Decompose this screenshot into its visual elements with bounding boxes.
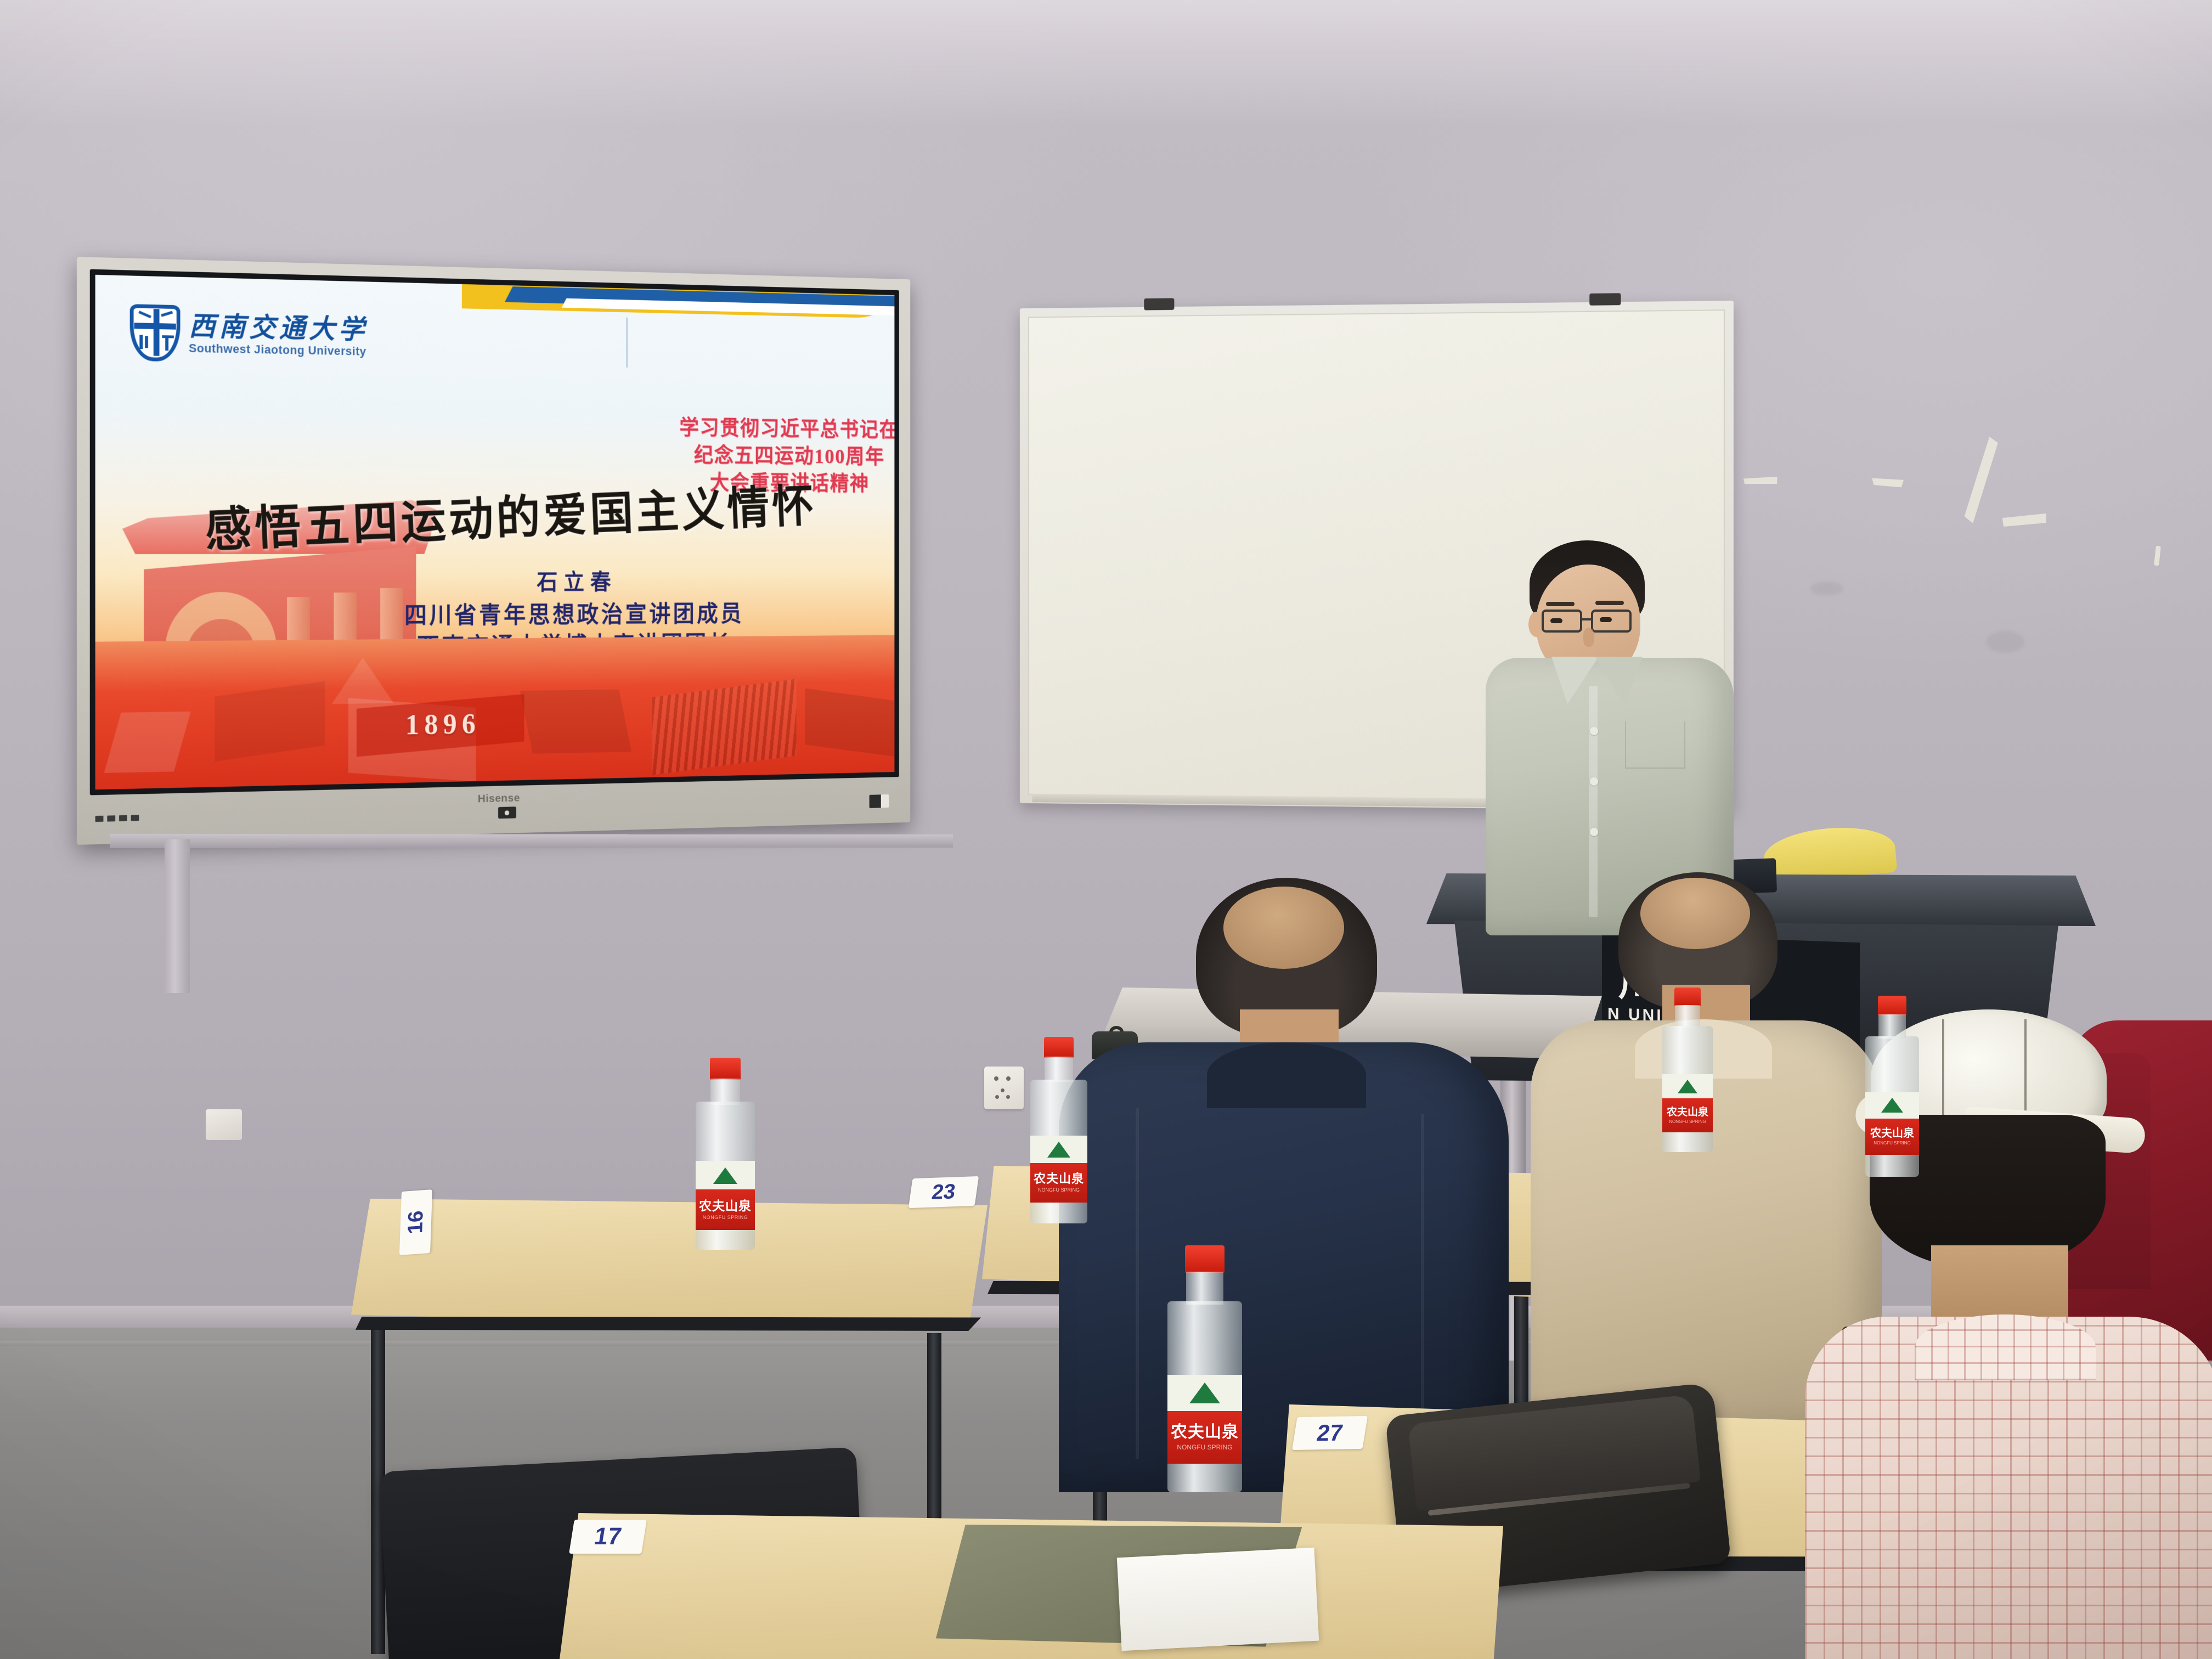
- display-wall-mount: [165, 839, 190, 993]
- ceiling-light-gradient: [0, 0, 2212, 126]
- logo-chinese-name: 西南交通大学: [189, 312, 368, 343]
- red-heading-line-2: 纪念五四运动100周年: [675, 441, 894, 470]
- bottle-brand-en: NONGFU SPRING: [1038, 1188, 1080, 1193]
- bottle-brand-en: NONGFU SPRING: [1874, 1141, 1911, 1145]
- water-bottle[interactable]: 农夫山泉 NONGFU SPRING: [696, 1058, 755, 1250]
- bottle-brand-cn: 农夫山泉: [1667, 1107, 1708, 1118]
- speaker-name: 石立春: [297, 564, 842, 597]
- display-ports[interactable]: [95, 815, 139, 822]
- desk-number-placard: 27: [1292, 1416, 1368, 1450]
- power-outlet-secondary[interactable]: [206, 1109, 242, 1140]
- water-bottle[interactable]: 农夫山泉 NONGFU SPRING: [1030, 1037, 1087, 1223]
- display-brand-label: Hisense: [478, 792, 520, 805]
- desk-number-placard: 16: [399, 1189, 432, 1255]
- display-wall-shelf: [110, 834, 953, 848]
- wall-smudge: [1810, 582, 1843, 596]
- shield-icon: [130, 304, 180, 362]
- student-desk: [351, 1199, 988, 1330]
- bottle-brand-en: NONGFU SPRING: [1177, 1444, 1232, 1451]
- bottle-brand-cn: 农夫山泉: [1870, 1128, 1914, 1139]
- display-screen[interactable]: 西南交通大学 Southwest Jiaotong University: [95, 275, 895, 789]
- classroom-photo-scene: 西南交通大学 Southwest Jiaotong University: [0, 0, 2212, 1659]
- paper-sheet[interactable]: [1117, 1548, 1319, 1651]
- water-bottle[interactable]: 农夫山泉 NONGFU SPRING: [1662, 988, 1713, 1152]
- bottle-brand-en: NONGFU SPRING: [1669, 1120, 1706, 1124]
- smart-display[interactable]: 西南交通大学 Southwest Jiaotong University: [77, 257, 910, 845]
- red-heading-line-1: 学习贯彻习近平总书记在: [675, 414, 894, 444]
- display-bezel: 西南交通大学 Southwest Jiaotong University: [90, 269, 899, 795]
- audience-member-navy-jacket: [1059, 878, 1509, 1492]
- university-logo: 西南交通大学 Southwest Jiaotong University: [130, 304, 368, 365]
- power-outlet[interactable]: [984, 1066, 1024, 1109]
- bottle-brand-cn: 农夫山泉: [1034, 1173, 1084, 1185]
- desk-number-placard: 23: [909, 1176, 979, 1208]
- founding-year-label: 1896: [405, 707, 481, 741]
- logo-divider: [626, 318, 628, 368]
- slide-main-title: 感悟五四运动的爱国主义情怀: [143, 467, 871, 563]
- display-ir-sensor: [870, 794, 889, 808]
- whiteboard-clip[interactable]: [1144, 298, 1174, 310]
- slide-swoosh-graphic: [462, 284, 894, 357]
- wall-smudge: [1986, 631, 2024, 653]
- water-bottle[interactable]: 农夫山泉 NONGFU SPRING: [1865, 996, 1919, 1177]
- logo-english-name: Southwest Jiaotong University: [189, 341, 368, 359]
- display-power-button[interactable]: [498, 806, 516, 819]
- slide-bottom-collage: 1896: [95, 635, 895, 789]
- whiteboard-clip[interactable]: [1589, 293, 1621, 306]
- presentation-slide: 西南交通大学 Southwest Jiaotong University: [95, 275, 895, 789]
- speaker-affiliation-1: 四川省青年思想政治宣讲团成员: [297, 598, 842, 633]
- desk-edge: [356, 1317, 981, 1331]
- water-bottle[interactable]: 农夫山泉 NONGFU SPRING: [1167, 1245, 1242, 1492]
- bottle-brand-cn: 农夫山泉: [1171, 1424, 1239, 1441]
- bottle-brand-cn: 农夫山泉: [699, 1200, 752, 1212]
- desk-number-placard: 17: [569, 1520, 647, 1554]
- bottle-brand-en: NONGFU SPRING: [703, 1215, 748, 1220]
